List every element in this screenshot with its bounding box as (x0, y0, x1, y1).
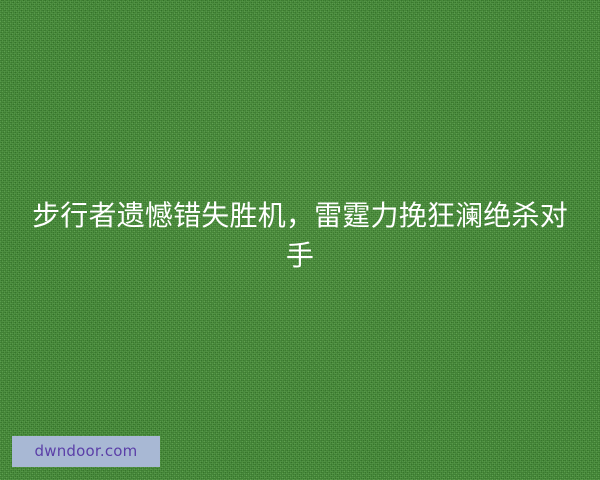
page-title: 步行者遗憾错失胜机，雷霆力挽狂澜绝杀对手 (30, 196, 570, 276)
headline-container: 步行者遗憾错失胜机，雷霆力挽狂澜绝杀对手 (0, 196, 600, 276)
article-title-card: 步行者遗憾错失胜机，雷霆力挽狂澜绝杀对手 dwndoor.com (0, 0, 600, 480)
site-watermark-label: dwndoor.com (35, 444, 138, 459)
site-watermark-badge[interactable]: dwndoor.com (12, 436, 160, 467)
